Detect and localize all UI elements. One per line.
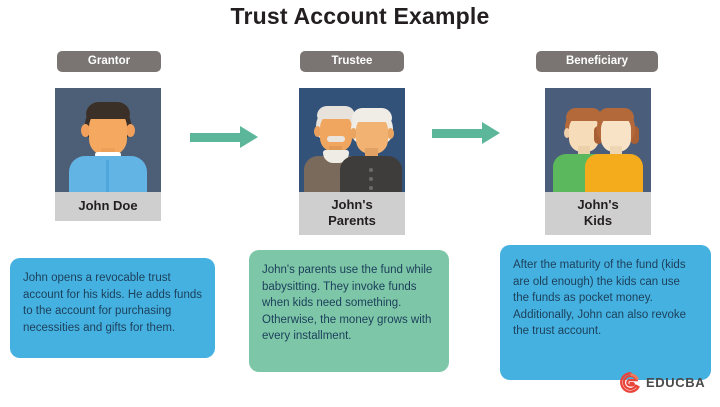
person-name-trustee-line2: Parents — [301, 213, 403, 229]
person-card-beneficiary: John's Kids — [545, 88, 651, 235]
role-badge-grantor: Grantor — [57, 51, 161, 72]
educba-logo-text: EDUCBA — [646, 375, 705, 390]
person-name-beneficiary-line1: John's — [547, 197, 649, 213]
person-avatar-icon — [55, 88, 161, 192]
arrow-right-icon-2 — [432, 122, 506, 144]
person-name-trustee: John's Parents — [299, 192, 405, 235]
description-grantor: John opens a revocable trust account for… — [10, 258, 215, 358]
elderly-couple-avatar-icon — [299, 88, 405, 192]
educba-logo: EDUCBA — [620, 372, 705, 393]
person-name-beneficiary-line2: Kids — [547, 213, 649, 229]
person-card-grantor: John Doe — [55, 88, 161, 221]
person-name-grantor: John Doe — [55, 192, 161, 221]
person-card-trustee: John's Parents — [299, 88, 405, 235]
description-beneficiary: After the maturity of the fund (kids are… — [500, 245, 711, 380]
arrow-right-icon — [190, 126, 264, 148]
educba-e-logo-icon — [620, 372, 641, 393]
role-badge-beneficiary: Beneficiary — [536, 51, 658, 72]
infographic-canvas: Trust Account Example Grantor Trustee Be… — [0, 0, 720, 407]
two-children-avatar-icon — [545, 88, 651, 192]
page-title: Trust Account Example — [0, 3, 720, 30]
role-badge-trustee: Trustee — [300, 51, 404, 72]
person-name-trustee-line1: John's — [301, 197, 403, 213]
description-trustee: John's parents use the fund while babysi… — [249, 250, 449, 372]
person-name-beneficiary: John's Kids — [545, 192, 651, 235]
